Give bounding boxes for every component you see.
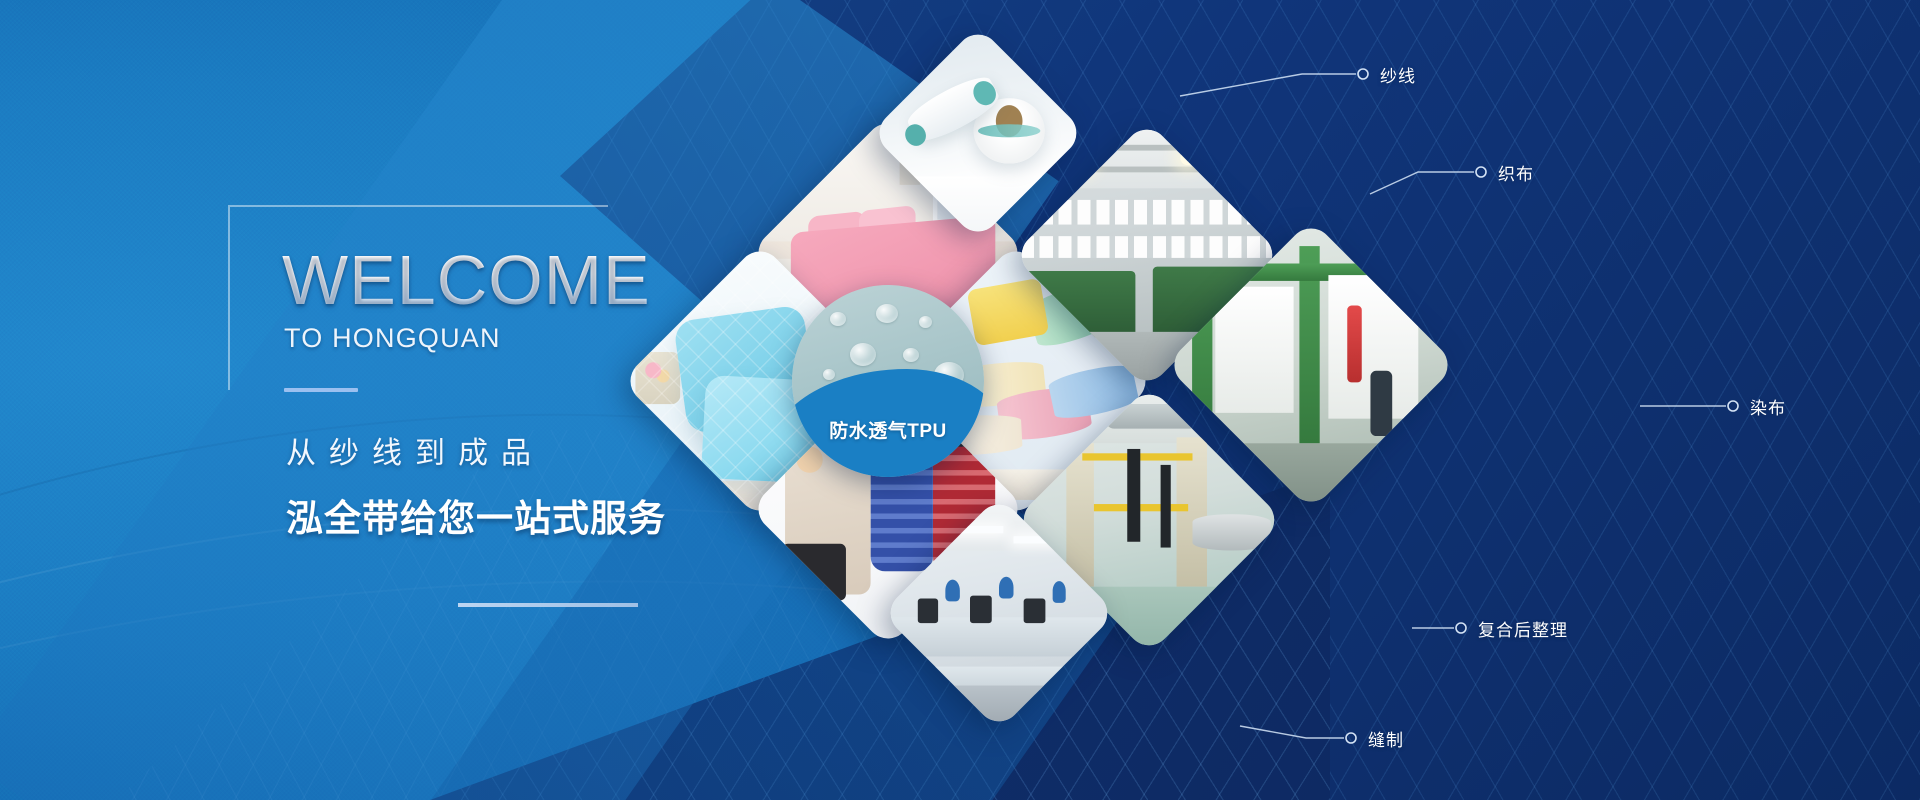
feature-badge[interactable]: 防水透气TPU bbox=[792, 285, 984, 477]
callout-sewing: 缝制 bbox=[1240, 710, 1520, 750]
callout-label: 纱线 bbox=[1380, 62, 1416, 87]
hero-banner: WELCOME TO HONGQUAN 从纱线到成品 泓全带给您一站式服务 bbox=[0, 0, 1920, 800]
callout-label: 染布 bbox=[1750, 394, 1786, 419]
callout-weaving: 织布 bbox=[1370, 152, 1650, 198]
badge-label: 防水透气TPU bbox=[792, 416, 984, 443]
callout-label: 复合后整理 bbox=[1478, 616, 1568, 641]
callout-label: 织布 bbox=[1498, 160, 1534, 185]
callout-label: 缝制 bbox=[1368, 726, 1404, 751]
callout-leader-line bbox=[1180, 60, 1460, 100]
callout-yarn: 纱线 bbox=[1180, 60, 1460, 100]
callout-lamination: 复合后整理 bbox=[1412, 600, 1712, 640]
bottom-accent-rule bbox=[458, 603, 638, 607]
callout-dyeing: 染布 bbox=[1640, 392, 1920, 422]
